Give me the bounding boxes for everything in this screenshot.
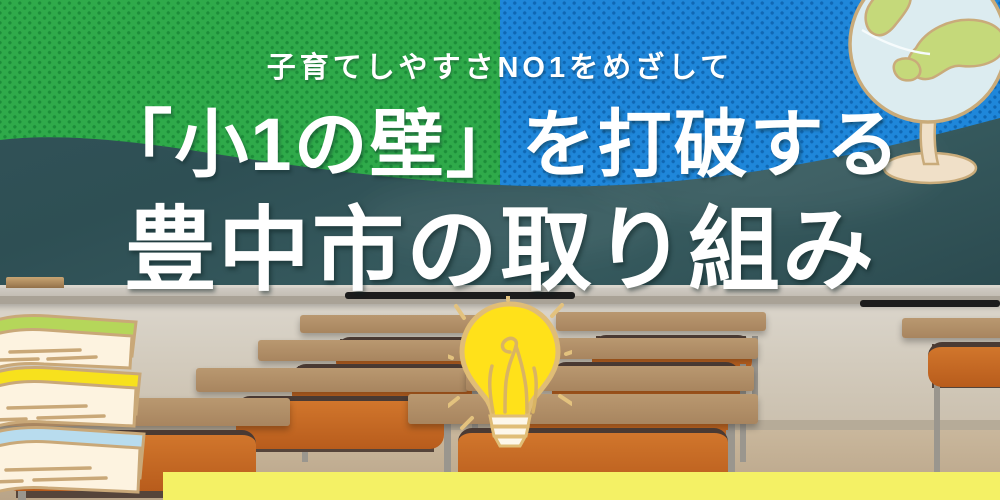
- banner-headline-line2: 豊中市の取り組み: [0, 176, 1000, 309]
- headline-block: 子育てしやすさNO1をめざして 「小1の壁」を打破する 豊中市の取り組み: [0, 0, 1000, 500]
- banner-subtitle: 子育てしやすさNO1をめざして: [0, 44, 1000, 86]
- bottom-accent-bar: [163, 472, 1000, 500]
- hero-banner: 子育てしやすさNO1をめざして 「小1の壁」を打破する 豊中市の取り組み: [0, 0, 1000, 500]
